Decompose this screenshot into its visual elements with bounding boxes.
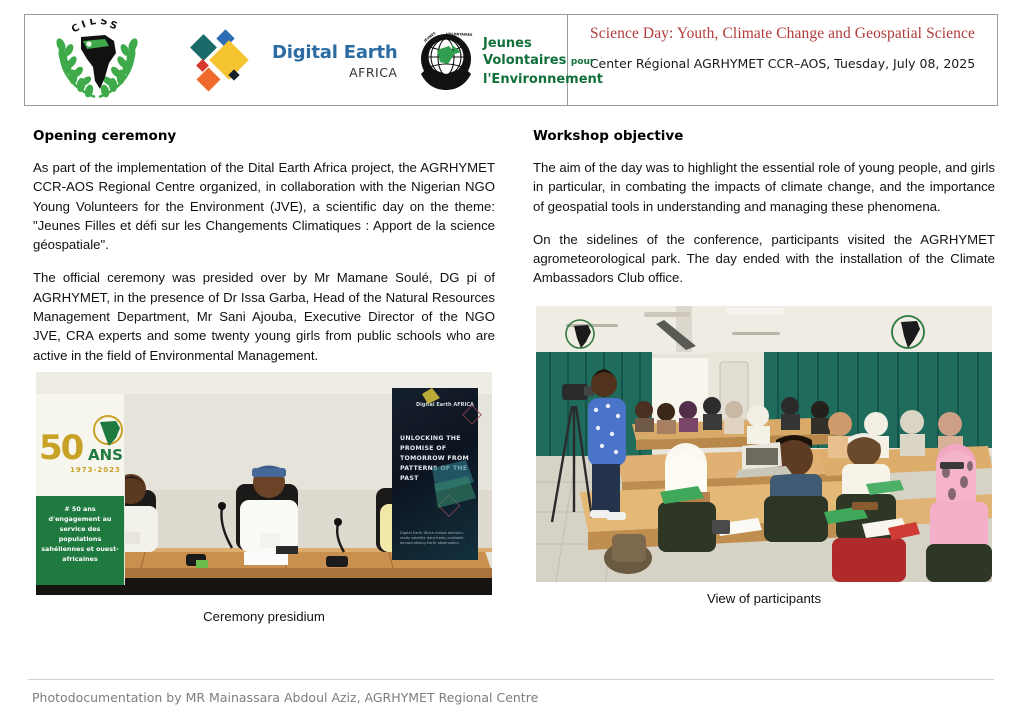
dea-wordmark-line2: AFRICA [272, 65, 398, 80]
participants-photo-art [536, 306, 992, 582]
right-section-heading: Workshop objective [533, 128, 995, 144]
banner-dea-footnote: Digital Earth Africa makes decision-read… [400, 531, 472, 546]
ceremony-presidium-photo: 50 ANS 1973-2023 # 50 ans d'engagement a… [36, 372, 492, 595]
jve-wordmark-line1: Jeunes [483, 35, 603, 52]
cilss-logo: C I L S S [43, 19, 151, 103]
header-title-panel: Science Day: Youth, Climate Change and G… [568, 15, 997, 105]
svg-text:L: L [89, 19, 98, 28]
jve-wordmark-line2: Volontaires [483, 53, 566, 68]
jve-globe-hands-icon: JEUNES VOLONTAIRES [415, 30, 477, 92]
participants-view-photo [536, 306, 992, 582]
right-paragraph-2: On the sidelines of the conference, part… [533, 230, 995, 288]
left-column: Opening ceremony As part of the implemen… [33, 128, 495, 379]
event-venue-date: Center Régional AGRHYMET CCR–AOS, Tuesda… [568, 56, 997, 71]
dea-wordmark-line1: Digital Earth [272, 43, 398, 63]
left-photo-caption: Ceremony presidium [36, 609, 492, 624]
event-title: Science Day: Youth, Climate Change and G… [568, 25, 997, 43]
header-logo-panel: C I L S S Digital Earth AFRICA [25, 15, 568, 105]
banner-years: 1973-2023 [70, 466, 121, 474]
footer-divider [28, 679, 994, 680]
jeunes-volontaires-logo: JEUNES VOLONTAIRES Jeunes Volontaires po… [415, 27, 603, 95]
ceremony-photo-art: 50 ANS 1973-2023 # 50 ans d'engagement a… [36, 372, 492, 595]
svg-text:S: S [108, 19, 119, 32]
banner-ans-label: ANS [88, 446, 123, 464]
left-paragraph-2: The official ceremony was presided over … [33, 268, 495, 364]
document-header: C I L S S Digital Earth AFRICA [24, 14, 998, 106]
left-paragraph-1: As part of the implementation of the Dit… [33, 158, 495, 254]
jve-wordmark-pour: pour [571, 57, 594, 67]
banner-dea-logo: Digital Earth AFRICA [416, 402, 474, 408]
banner-50-number: 50 [39, 428, 82, 468]
right-photo-caption: View of participants [536, 591, 992, 606]
footer-credit: Photodocumentation by MR Mainassara Abdo… [32, 690, 538, 705]
svg-text:C: C [70, 22, 82, 35]
dea-diamond-mark-icon [190, 30, 264, 92]
svg-text:I: I [80, 19, 87, 31]
banner-50-body: # 50 ans d'engagement au service des pop… [38, 504, 122, 564]
cilss-logo-icon: C I L S S [43, 19, 151, 103]
left-section-heading: Opening ceremony [33, 128, 495, 144]
digital-earth-africa-logo: Digital Earth AFRICA [190, 29, 398, 93]
jve-wordmark-line3: l'Environnement [483, 71, 603, 88]
right-column: Workshop objective The aim of the day wa… [533, 128, 995, 302]
svg-text:S: S [100, 19, 108, 28]
right-paragraph-1: The aim of the day was to highlight the … [533, 158, 995, 216]
